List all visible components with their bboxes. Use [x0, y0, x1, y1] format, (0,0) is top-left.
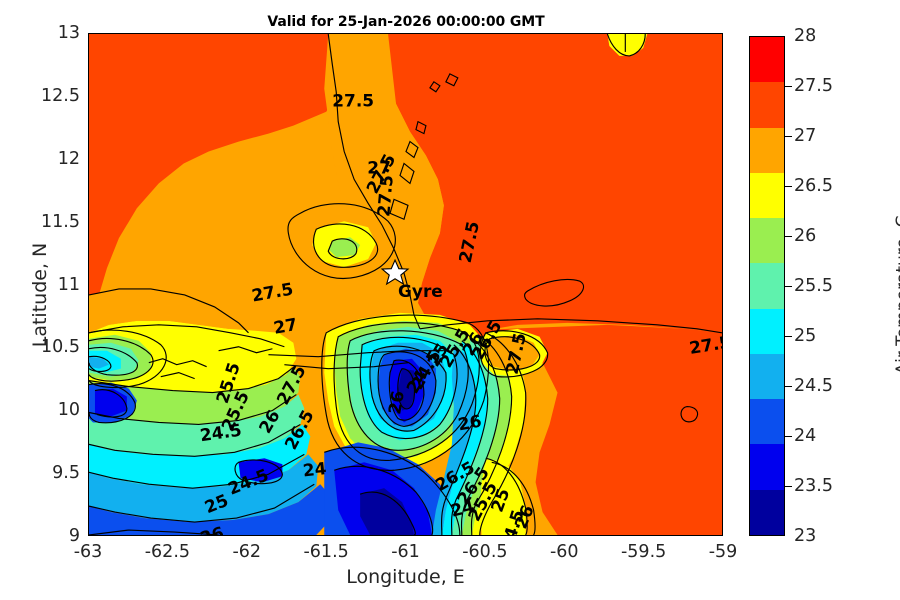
colorbar-tick-label: 24 — [794, 426, 816, 446]
colorbar-tick-label: 27.5 — [794, 76, 833, 96]
colorbar-tick-mark — [785, 286, 792, 287]
colorbar-band — [750, 218, 784, 263]
colorbar-tick-label: 24.5 — [794, 376, 833, 396]
x-axis-label: Longitude, E — [88, 566, 723, 588]
contour-label: 27.5 — [373, 174, 397, 217]
y-tick-label: 12.5 — [32, 86, 80, 106]
contour-label: 27.5 — [332, 91, 374, 111]
figure-root: Valid for 25-Jan-2026 00:00:00 GMT — [0, 0, 900, 600]
contour-label: 24 — [302, 458, 328, 480]
colorbar-band — [750, 490, 784, 535]
colorbar-band — [750, 309, 784, 354]
colorbar-band — [750, 128, 784, 173]
x-tick-label: -61.5 — [303, 542, 348, 562]
colorbar-tick-label: 26.5 — [794, 176, 833, 196]
colorbar-title: Air Temperature, C — [893, 175, 900, 415]
colorbar-band — [750, 354, 784, 399]
y-tick-label: 12 — [32, 149, 80, 169]
contour-field: Gyre 27.527.527.52727.527.52727.527.525.… — [89, 34, 722, 535]
colorbar[interactable] — [749, 36, 785, 536]
y-tick-label: 9 — [32, 526, 80, 546]
colorbar-tick-mark — [785, 86, 792, 87]
x-tick-label: -62.5 — [145, 542, 190, 562]
x-tick-label: -59 — [709, 542, 738, 562]
colorbar-tick-mark — [785, 236, 792, 237]
x-tick-label: -59.5 — [621, 542, 666, 562]
colorbar-tick-label: 28 — [794, 26, 816, 46]
contour-label: 27 — [367, 157, 391, 177]
x-tick-label: -61 — [391, 542, 420, 562]
colorbar-tick-label: 25 — [794, 326, 816, 346]
colorbar-tick-label: 23 — [794, 526, 816, 546]
colorbar-band — [750, 37, 784, 82]
y-axis-label: Latitude, N — [29, 195, 51, 395]
colorbar-band — [750, 263, 784, 308]
colorbar-tick-mark — [785, 436, 792, 437]
contour-plot-area[interactable]: Gyre 27.527.527.52727.527.52727.527.525.… — [88, 33, 723, 536]
page-title: Valid for 25-Jan-2026 00:00:00 GMT — [88, 14, 724, 30]
colorbar-band — [750, 82, 784, 127]
x-tick-label: -62 — [232, 542, 261, 562]
colorbar-tick-label: 27 — [794, 126, 816, 146]
colorbar-tick-mark — [785, 186, 792, 187]
y-tick-label: 9.5 — [32, 463, 80, 483]
contour-label: 26 — [384, 389, 408, 416]
x-tick-label: -60.5 — [462, 542, 507, 562]
y-tick-label: 13 — [32, 23, 80, 43]
contour-label: 26 — [456, 411, 483, 435]
colorbar-band — [750, 399, 784, 444]
colorbar-tick-mark — [785, 486, 792, 487]
colorbar-tick-mark — [785, 386, 792, 387]
y-tick-label: 10 — [32, 400, 80, 420]
colorbar-tick-mark — [785, 136, 792, 137]
gyre-label: Gyre — [398, 281, 443, 301]
x-tick-label: -60 — [550, 542, 579, 562]
contour-label: 27 — [272, 314, 299, 338]
colorbar-tick-label: 25.5 — [794, 276, 833, 296]
colorbar-tick-label: 23.5 — [794, 476, 833, 496]
colorbar-band — [750, 444, 784, 489]
colorbar-tick-mark — [785, 336, 792, 337]
colorbar-band — [750, 173, 784, 218]
colorbar-tick-label: 26 — [794, 226, 816, 246]
